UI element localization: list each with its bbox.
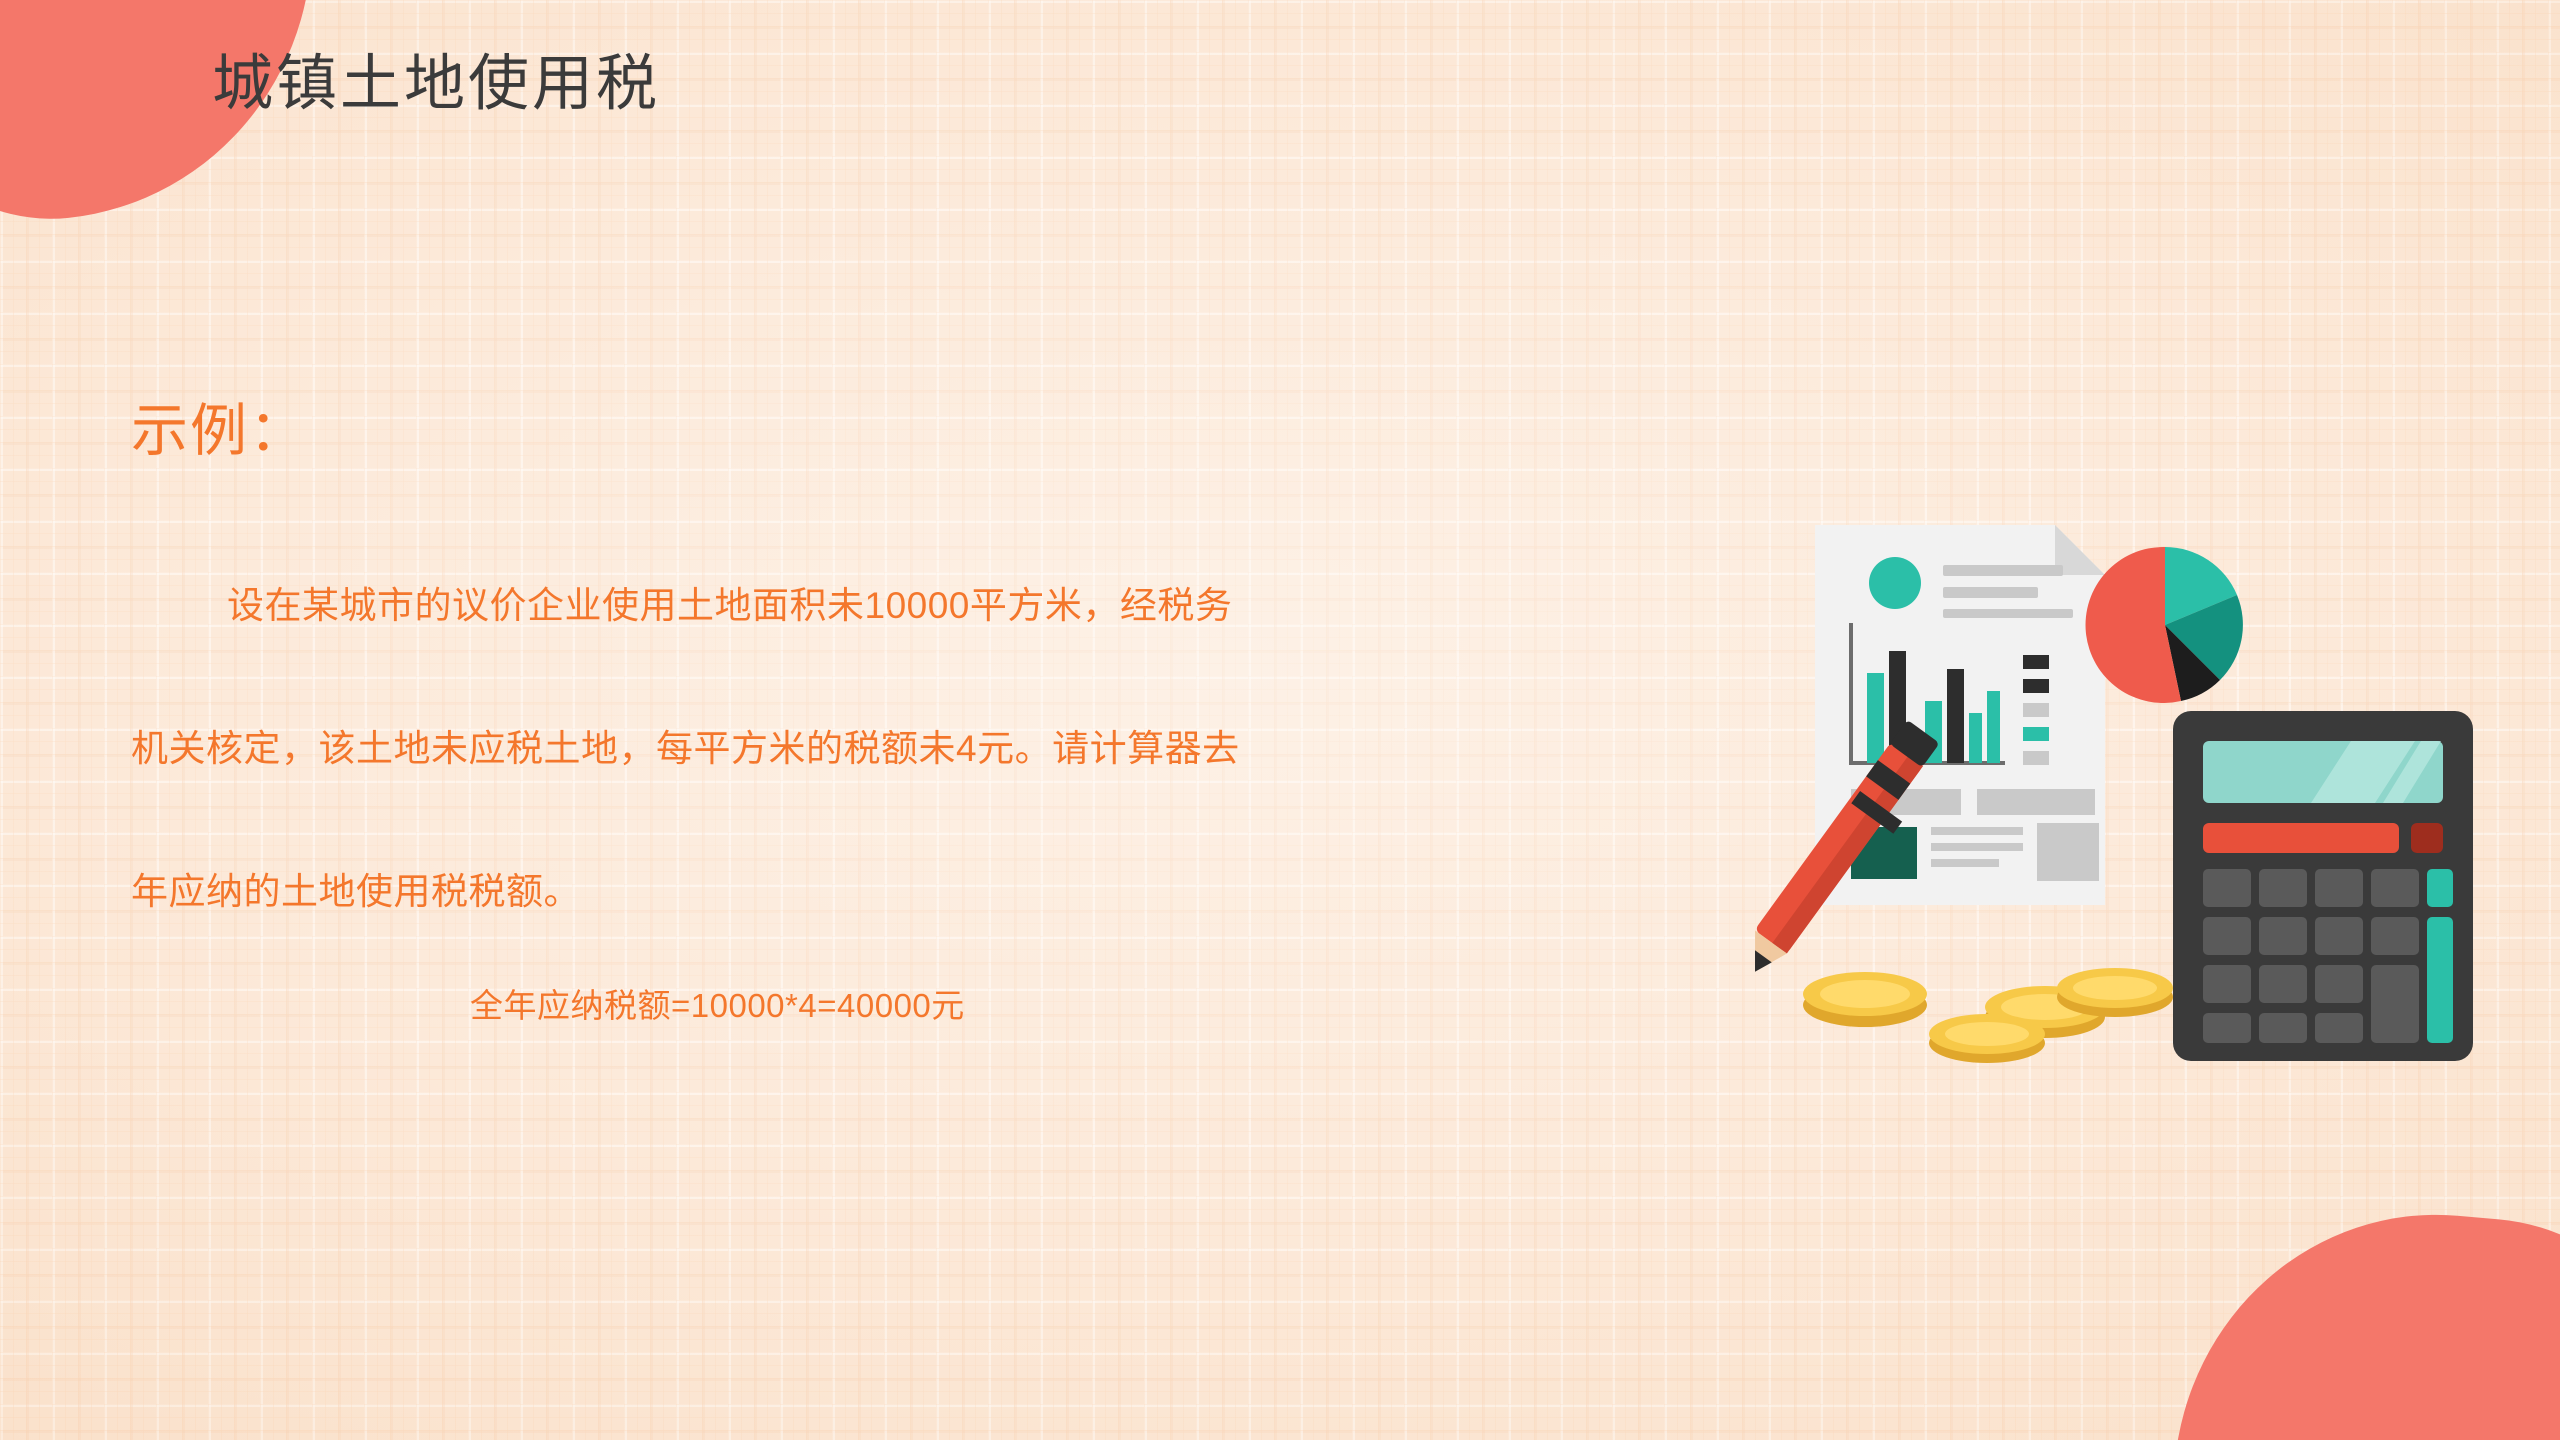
- pie-chart: [2086, 547, 2243, 703]
- calculator: [2173, 711, 2473, 1061]
- body-paragraph-line-3: 年应纳的土地使用税税额。: [131, 861, 581, 915]
- bottom-right-coral-blob: [2164, 1193, 2560, 1440]
- doc-teal-circle: [1869, 557, 1921, 609]
- gold-coins: [1803, 968, 2173, 1063]
- page-title: 城镇土地使用税: [212, 33, 660, 122]
- calculation-formula: 全年应纳税额=10000*4=40000元: [470, 979, 965, 1027]
- example-heading: 示例：: [131, 385, 308, 467]
- body-paragraph-line-1: 设在某城市的议价企业使用土地面积未10000平方米，经税务: [131, 575, 1232, 629]
- slide-canvas: 城镇土地使用税 示例： 设在某城市的议价企业使用土地面积未10000平方米，经税…: [0, 0, 2560, 1440]
- body-paragraph-line-2: 机关核定，该土地未应税土地，每平方米的税额未4元。请计算器去: [131, 718, 1240, 772]
- finance-report-illustration: [1755, 505, 2515, 1105]
